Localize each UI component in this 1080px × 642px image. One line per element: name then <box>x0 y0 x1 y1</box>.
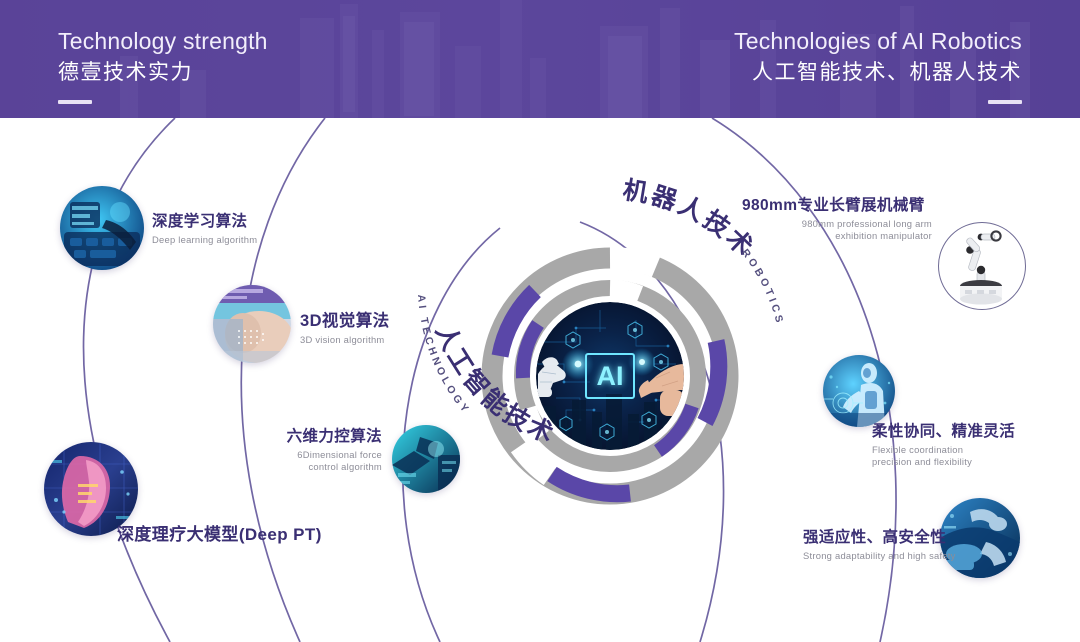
label-long-arm-manipulator-cn: 980mm专业长臂展机械臂 <box>742 196 932 215</box>
label-3d-vision-cn: 3D视觉算法 <box>300 312 390 331</box>
label-long-arm-manipulator-en-2: exhibition manipulator <box>742 230 932 242</box>
header-right-title-en: Technologies of AI Robotics <box>734 26 1022 56</box>
label-3d-vision: 3D视觉算法 3D vision algorithm <box>300 312 390 346</box>
label-flexible-coordination-en-1: Flexible coordination <box>872 444 1015 456</box>
3d-face-scan-image <box>213 285 291 363</box>
node-thumb-deep-learning[interactable] <box>60 186 144 270</box>
header-right-title-cn: 人工智能技术、机器人技术 <box>734 58 1022 88</box>
ai-chip-label: AI <box>585 353 635 399</box>
robot-mobile-base <box>960 280 1002 305</box>
center-ai-graphic: AI <box>480 246 740 506</box>
label-six-axis-force-en-1: 6Dimensional force <box>248 449 382 461</box>
page-header: Technology strength 德壹技术实力 Technologies … <box>0 0 1080 118</box>
label-long-arm-manipulator: 980mm专业长臂展机械臂 980mm professional long ar… <box>742 196 932 243</box>
teal-robotic-machinery-image <box>392 425 460 493</box>
label-deep-learning-en: Deep learning algorithm <box>152 234 257 246</box>
label-long-arm-manipulator-en-1: 980mm professional long arm <box>742 218 932 230</box>
label-adaptability-safety: 强适应性、高安全性 Strong adaptability and high s… <box>803 528 956 562</box>
header-left-block: Technology strength 德壹技术实力 <box>58 26 268 104</box>
header-right-rule <box>988 100 1022 104</box>
header-right-block: Technologies of AI Robotics 人工智能技术、机器人技术 <box>734 26 1022 104</box>
outer-ring-gap-top <box>610 258 656 267</box>
inner-ring-gap-top <box>610 288 640 294</box>
label-six-axis-force: 六维力控算法 6Dimensional force control algori… <box>248 427 382 474</box>
header-left-title-cn: 德壹技术实力 <box>58 58 268 88</box>
header-left-rule <box>58 100 92 104</box>
node-thumb-deep-pt[interactable] <box>44 442 138 536</box>
header-left-title-en: Technology strength <box>58 26 268 56</box>
label-flexible-coordination-cn: 柔性协同、精准灵活 <box>872 422 1015 441</box>
label-deep-learning-cn: 深度学习算法 <box>152 212 257 231</box>
label-six-axis-force-cn: 六维力控算法 <box>248 427 382 446</box>
label-deep-pt: 深度理疗大模型(Deep PT) <box>117 525 322 544</box>
label-flexible-coordination-en-2: precision and flexibility <box>872 456 1015 468</box>
node-thumb-six-axis-force[interactable] <box>392 425 460 493</box>
node-thumb-long-arm-manipulator[interactable] <box>938 222 1026 310</box>
robot-arm-links <box>965 231 1000 287</box>
blue-circuit-keyboard-image <box>60 186 144 270</box>
label-3d-vision-en: 3D vision algorithm <box>300 334 390 346</box>
arc-left-middle <box>241 118 325 642</box>
node-thumb-3d-vision[interactable] <box>213 285 291 363</box>
label-adaptability-safety-en: Strong adaptability and high safety <box>803 550 956 562</box>
label-deep-pt-cn: 深度理疗大模型 <box>117 525 239 544</box>
inner-ring-gap-bl <box>528 408 542 436</box>
label-deep-learning: 深度学习算法 Deep learning algorithm <box>152 212 257 246</box>
label-deep-pt-suffix: (Deep PT) <box>239 525 322 544</box>
humanoid-robot-interface-image <box>823 355 895 427</box>
ai-center-photo: AI <box>536 302 684 450</box>
node-thumb-flexible-coordination[interactable] <box>823 355 895 427</box>
label-six-axis-force-en-2: control algorithm <box>248 461 382 473</box>
label-flexible-coordination: 柔性协同、精准灵活 Flexible coordination precisio… <box>872 422 1015 469</box>
label-adaptability-safety-cn: 强适应性、高安全性 <box>803 528 956 547</box>
pink-digital-head-image <box>44 442 138 536</box>
purple-arc-right <box>705 341 719 422</box>
robot-arm-illustration <box>939 223 1025 309</box>
infographic-poster: Technology strength 德壹技术实力 Technologies … <box>0 0 1080 642</box>
